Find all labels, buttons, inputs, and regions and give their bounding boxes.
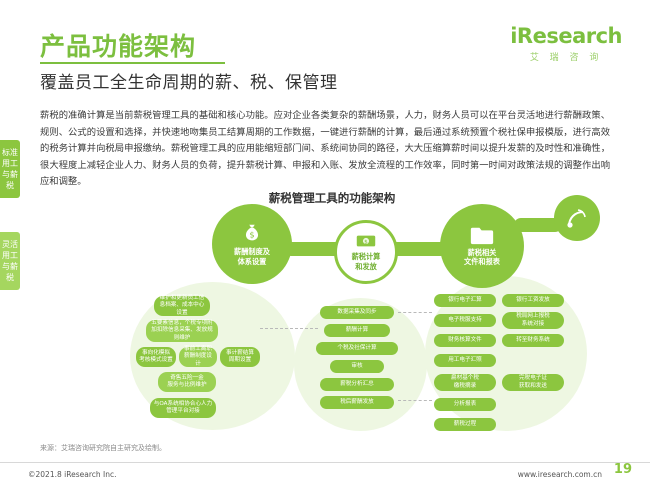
website-url: www.iresearch.com.cn — [518, 470, 602, 479]
dashed-arrow-3 — [398, 400, 432, 401]
dashed-arrow-1 — [260, 328, 318, 329]
node-label-1: 薪酬制度及体系设置 — [234, 247, 270, 266]
banknote-icon: $ — [356, 233, 376, 249]
svg-text:$: $ — [364, 239, 367, 245]
source-note: 来源：艾瑞咨询研究院自主研究及绘制。 — [40, 443, 166, 453]
pill-g3-5[interactable]: 转至财务系统 — [502, 334, 564, 347]
pill-g1-5[interactable]: 奇售五险一金服务与比例维护 — [158, 372, 216, 392]
logo-text: iResearch — [510, 24, 622, 48]
footer-divider — [0, 462, 650, 463]
pill-g2-4[interactable]: 薪税分析汇总 — [320, 378, 394, 391]
page-number: 19 — [614, 462, 632, 477]
page-title: 产品功能架构 — [40, 27, 196, 63]
logo-subtext: 艾 瑞 咨 询 — [510, 50, 622, 63]
copyright-text: ©2021.8 iResearch Inc. — [28, 470, 116, 479]
pill-g2-2[interactable]: 个税及社保计算 — [316, 342, 398, 355]
pill-g2-3[interactable]: 审核 — [330, 360, 384, 373]
pill-g3-12[interactable]: 薪税过程 — [434, 418, 496, 431]
slide-page: 产品功能架构 覆盖员工全生命周期的薪、税、保管理 iResearch 艾 瑞 咨… — [0, 0, 650, 488]
pill-g3-10[interactable]: 分析报表 — [434, 398, 496, 411]
pill-g1-0[interactable]: 维护和更新员工信息档案、成本中心设置 — [154, 296, 210, 316]
node-label-2: 薪税计算和发放 — [352, 252, 381, 271]
iresearch-logo: iResearch 艾 瑞 咨 询 — [510, 24, 622, 63]
pill-g1-6[interactable]: 与OA系统相协合心人力管理平台对接 — [150, 398, 216, 418]
diagram-title: 薪税管理工具的功能架构 — [62, 190, 602, 206]
pill-g3-0[interactable]: 银行电子汇算 — [434, 294, 496, 307]
diagram-container: 薪税管理工具的功能架构 $ 薪酬制度及体系设置 $ 薪税计算和发放 — [62, 190, 602, 440]
pill-g2-5[interactable]: 税后薪酬发放 — [320, 396, 394, 409]
pill-g3-2[interactable]: 电子税服支持 — [434, 314, 496, 327]
node-broadcast[interactable] — [554, 195, 600, 241]
pill-g1-3[interactable]: 事前工离职薪酬制度设计 — [179, 347, 217, 367]
body-paragraph: 薪税的准确计算是当前薪税管理工具的基础和核心功能。应对企业各类复杂的薪酬场景，人… — [40, 108, 610, 191]
dashed-arrow-2 — [398, 312, 432, 313]
node-label-3: 薪税相关文件和报表 — [464, 248, 500, 267]
sidebar-tab-standard[interactable]: 标准用工与薪税 — [0, 140, 20, 198]
pill-g3-9[interactable]: 完税电子证获取和发送 — [502, 374, 564, 391]
pill-g3-8[interactable]: 扁材基个税缴税摘录 — [434, 374, 496, 391]
pill-g3-3[interactable]: 税局网上报税系统对接 — [502, 312, 564, 329]
node-salary-system[interactable]: $ 薪酬制度及体系设置 — [212, 204, 292, 284]
pill-g3-6[interactable]: 用工电子汇照 — [434, 354, 496, 367]
pill-g3-1[interactable]: 银行工资发放 — [502, 294, 564, 307]
pill-g2-0[interactable]: 数据采集及同步 — [320, 306, 394, 319]
pill-g1-4[interactable]: 事计薪结算周期设置 — [220, 347, 260, 367]
sidebar-tab-flexible[interactable]: 灵活用工与薪税 — [0, 232, 20, 290]
node-documents-reports[interactable]: 薪税相关文件和报表 — [440, 204, 524, 288]
svg-text:$: $ — [249, 230, 254, 240]
pill-g1-2[interactable]: 事向化模拟考核模式设置 — [136, 347, 176, 367]
folder-icon — [470, 226, 494, 245]
pill-g3-4[interactable]: 财务核算文件 — [434, 334, 496, 347]
node-salary-calc[interactable]: $ 薪税计算和发放 — [334, 220, 398, 284]
satellite-dish-icon — [565, 206, 589, 230]
pill-g1-1[interactable]: 五要素信息，个税专项附加扣除信息采集、发放规则维护 — [146, 320, 218, 342]
pill-g2-1[interactable]: 薪酬计算 — [324, 324, 390, 337]
title-underline — [40, 62, 225, 64]
page-subtitle: 覆盖员工全生命周期的薪、税、保管理 — [40, 68, 338, 93]
money-bag-icon: $ — [241, 222, 263, 244]
